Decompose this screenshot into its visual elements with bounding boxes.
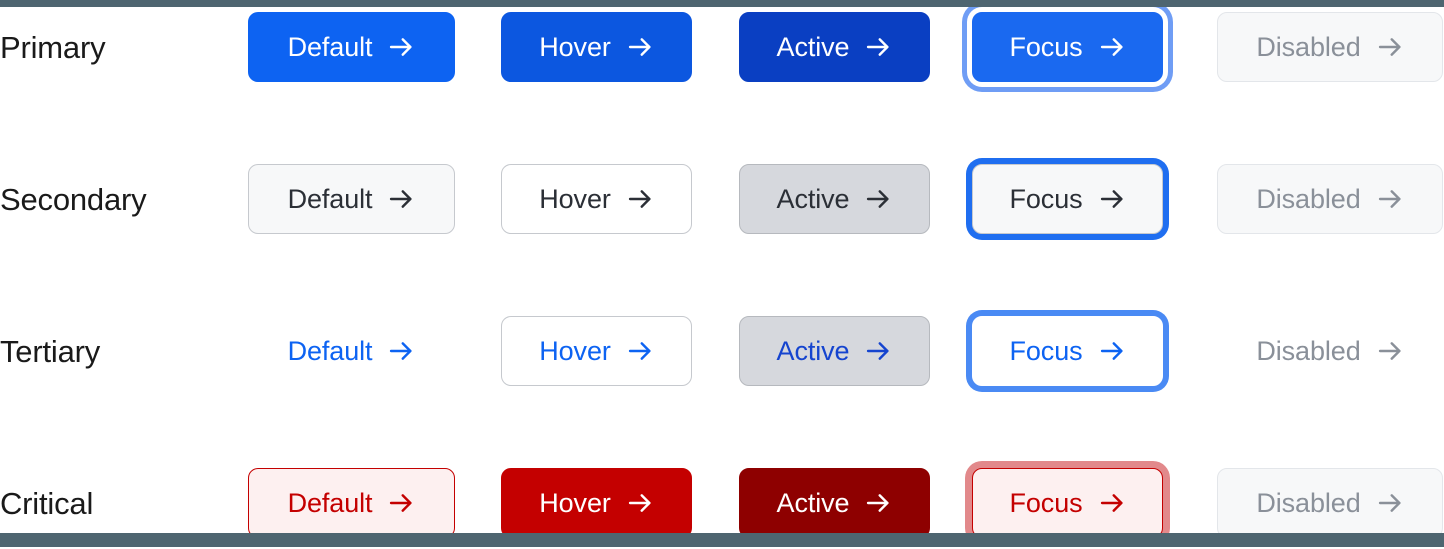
- button-critical-focus[interactable]: Focus: [972, 468, 1163, 538]
- bottom-edge-bar: [0, 533, 1444, 547]
- arrow-right-icon: [626, 185, 654, 213]
- button-label: Default: [288, 490, 373, 517]
- arrow-right-icon: [864, 489, 892, 517]
- button-label: Active: [777, 34, 850, 61]
- row-label-tertiary: Tertiary: [0, 305, 236, 397]
- cell-primary-active: Active: [739, 1, 969, 93]
- button-label: Active: [777, 186, 850, 213]
- button-states-matrix: PrimaryDefaultHoverActiveFocusDisabledSe…: [0, 0, 1444, 547]
- arrow-right-icon: [1376, 337, 1404, 365]
- button-tertiary-focus[interactable]: Focus: [972, 316, 1163, 386]
- button-label: Focus: [1009, 490, 1082, 517]
- cell-secondary-active: Active: [739, 153, 969, 245]
- arrow-right-icon: [864, 185, 892, 213]
- button-primary-active[interactable]: Active: [739, 12, 930, 82]
- button-critical-default[interactable]: Default: [248, 468, 455, 538]
- cell-secondary-hover: Hover: [501, 153, 731, 245]
- button-label: Focus: [1009, 186, 1082, 213]
- button-label: Default: [288, 186, 373, 213]
- button-secondary-active[interactable]: Active: [739, 164, 930, 234]
- cell-secondary-disabled: Disabled: [1217, 153, 1444, 245]
- button-row-tertiary: TertiaryDefaultHoverActiveFocusDisabled: [0, 305, 1444, 397]
- row-label-secondary: Secondary: [0, 153, 236, 245]
- arrow-right-icon: [1098, 489, 1126, 517]
- arrow-right-icon: [387, 489, 415, 517]
- arrow-right-icon: [1098, 33, 1126, 61]
- arrow-right-icon: [1098, 337, 1126, 365]
- button-secondary-focus[interactable]: Focus: [972, 164, 1163, 234]
- button-critical-active[interactable]: Active: [739, 468, 930, 538]
- button-label: Focus: [1009, 338, 1082, 365]
- arrow-right-icon: [1098, 185, 1126, 213]
- cell-tertiary-focus: Focus: [972, 305, 1202, 397]
- cell-tertiary-active: Active: [739, 305, 969, 397]
- button-label: Disabled: [1256, 490, 1360, 517]
- arrow-right-icon: [864, 337, 892, 365]
- top-edge-bar: [0, 0, 1444, 7]
- row-label-primary: Primary: [0, 1, 236, 93]
- button-primary-focus[interactable]: Focus: [972, 12, 1163, 82]
- arrow-right-icon: [1376, 33, 1404, 61]
- arrow-right-icon: [626, 33, 654, 61]
- button-label: Active: [777, 490, 850, 517]
- button-label: Hover: [539, 338, 611, 365]
- button-secondary-hover[interactable]: Hover: [501, 164, 692, 234]
- button-label: Hover: [539, 34, 611, 61]
- cell-tertiary-disabled: Disabled: [1217, 305, 1444, 397]
- arrow-right-icon: [626, 489, 654, 517]
- cell-primary-default: Default: [248, 1, 478, 93]
- button-row-secondary: SecondaryDefaultHoverActiveFocusDisabled: [0, 153, 1444, 245]
- arrow-right-icon: [387, 185, 415, 213]
- button-primary-hover[interactable]: Hover: [501, 12, 692, 82]
- button-tertiary-default[interactable]: Default: [248, 316, 455, 386]
- button-label: Focus: [1009, 34, 1082, 61]
- button-label: Disabled: [1256, 34, 1360, 61]
- cell-tertiary-hover: Hover: [501, 305, 731, 397]
- button-label: Default: [288, 34, 373, 61]
- arrow-right-icon: [1376, 489, 1404, 517]
- cell-primary-disabled: Disabled: [1217, 1, 1444, 93]
- cell-secondary-default: Default: [248, 153, 478, 245]
- button-critical-hover[interactable]: Hover: [501, 468, 692, 538]
- arrow-right-icon: [387, 337, 415, 365]
- arrow-right-icon: [387, 33, 415, 61]
- button-label: Active: [777, 338, 850, 365]
- button-secondary-default[interactable]: Default: [248, 164, 455, 234]
- button-secondary-disabled: Disabled: [1217, 164, 1443, 234]
- button-tertiary-hover[interactable]: Hover: [501, 316, 692, 386]
- cell-tertiary-default: Default: [248, 305, 478, 397]
- arrow-right-icon: [1376, 185, 1404, 213]
- button-primary-default[interactable]: Default: [248, 12, 455, 82]
- button-label: Disabled: [1256, 338, 1360, 365]
- arrow-right-icon: [626, 337, 654, 365]
- cell-secondary-focus: Focus: [972, 153, 1202, 245]
- button-label: Default: [288, 338, 373, 365]
- button-label: Hover: [539, 186, 611, 213]
- cell-primary-focus: Focus: [972, 1, 1202, 93]
- button-tertiary-disabled: Disabled: [1217, 316, 1443, 386]
- button-primary-disabled: Disabled: [1217, 12, 1443, 82]
- button-row-primary: PrimaryDefaultHoverActiveFocusDisabled: [0, 1, 1444, 93]
- cell-primary-hover: Hover: [501, 1, 731, 93]
- button-label: Disabled: [1256, 186, 1360, 213]
- button-tertiary-active[interactable]: Active: [739, 316, 930, 386]
- button-critical-disabled: Disabled: [1217, 468, 1443, 538]
- arrow-right-icon: [864, 33, 892, 61]
- button-label: Hover: [539, 490, 611, 517]
